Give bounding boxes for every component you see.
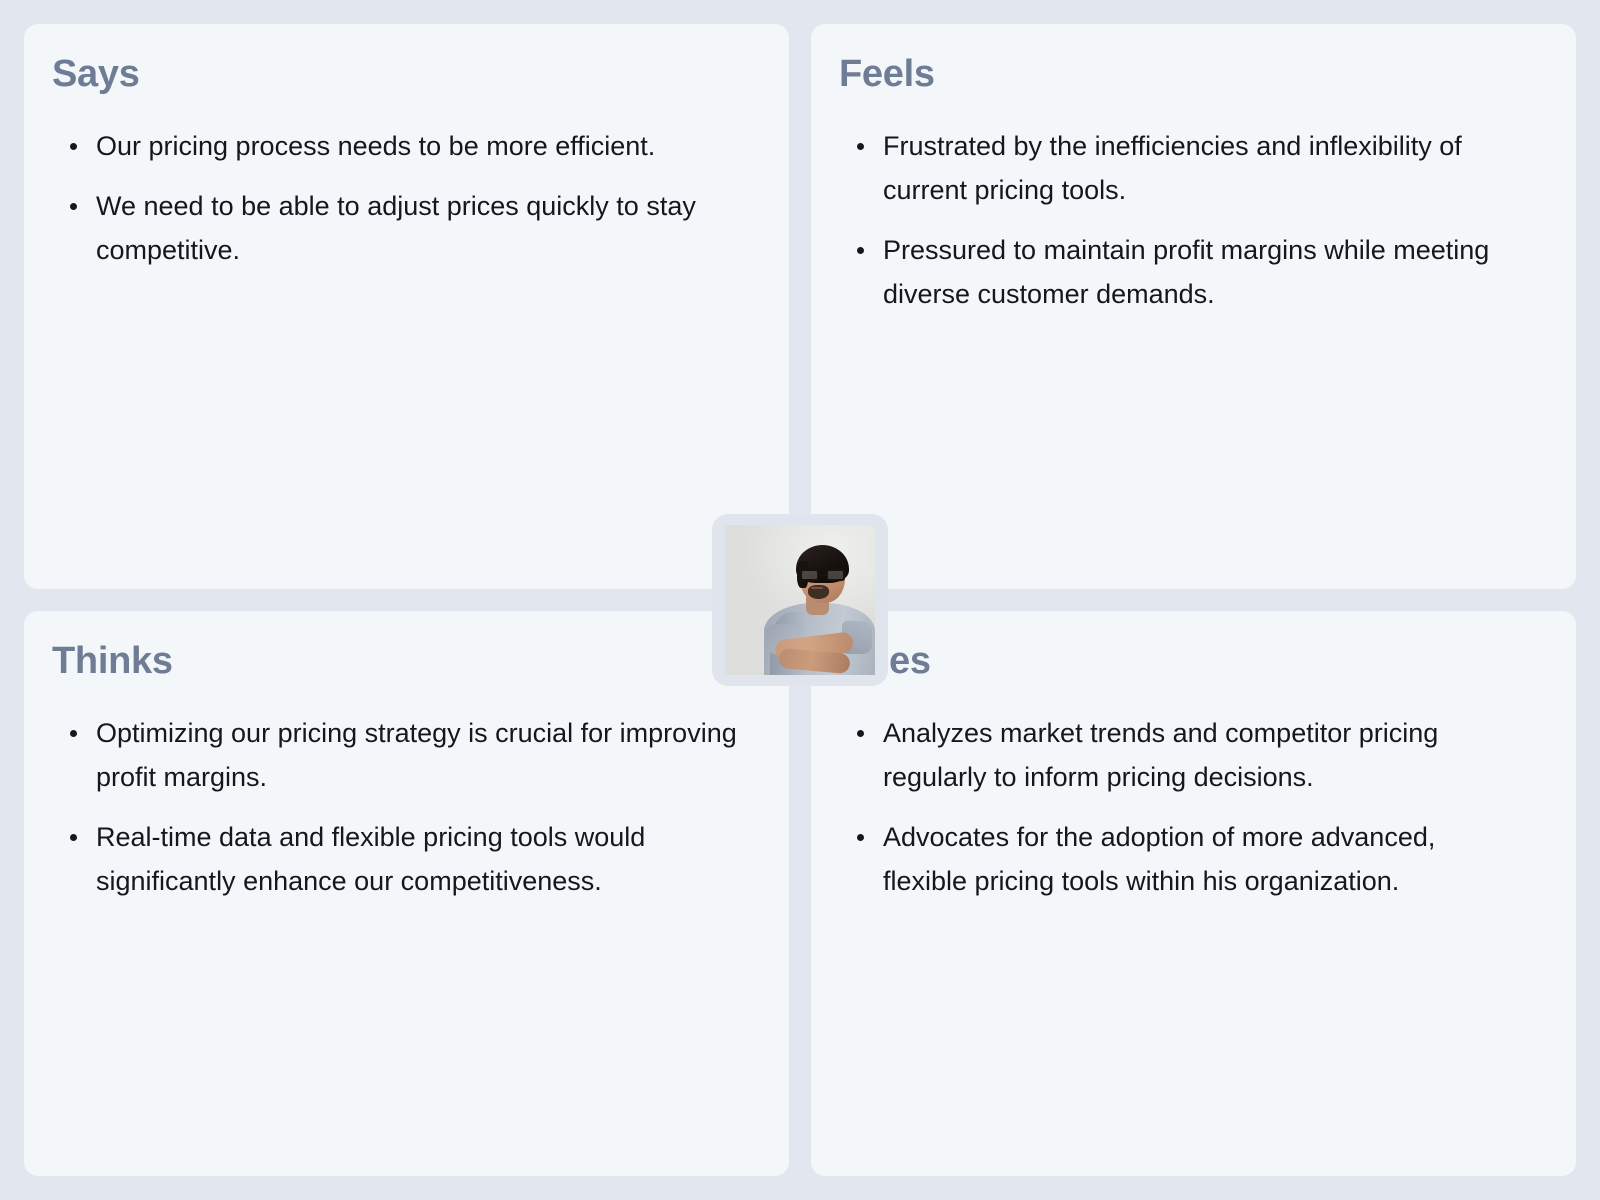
bullet-list-says: Our pricing process needs to be more eff… (52, 124, 755, 272)
list-item: Frustrated by the inefficiencies and inf… (845, 124, 1525, 212)
list-item: Our pricing process needs to be more eff… (58, 124, 738, 168)
avatar (725, 525, 875, 675)
list-item: Pressured to maintain profit margins whi… (845, 228, 1525, 316)
list-item: Optimizing our pricing strategy is cruci… (58, 711, 738, 799)
bullet-list-feels: Frustrated by the inefficiencies and inf… (839, 124, 1542, 316)
quadrant-says[interactable]: Says Our pricing process needs to be mor… (24, 24, 789, 589)
quadrant-title-does: Does (839, 641, 1542, 683)
quadrant-does[interactable]: Does Analyzes market trends and competit… (811, 611, 1576, 1176)
bullet-list-does: Analyzes market trends and competitor pr… (839, 711, 1542, 903)
bullet-list-thinks: Optimizing our pricing strategy is cruci… (52, 711, 755, 903)
list-item: Real-time data and flexible pricing tool… (58, 815, 738, 903)
empathy-map: Says Our pricing process needs to be mor… (0, 0, 1600, 1200)
persona-photo-icon (725, 525, 875, 675)
quadrant-title-thinks: Thinks (52, 641, 755, 683)
list-item: We need to be able to adjust prices quic… (58, 184, 738, 272)
quadrant-thinks[interactable]: Thinks Optimizing our pricing strategy i… (24, 611, 789, 1176)
list-item: Analyzes market trends and competitor pr… (845, 711, 1525, 799)
quadrant-title-says: Says (52, 54, 755, 96)
persona-avatar-card[interactable] (712, 514, 888, 686)
list-item: Advocates for the adoption of more advan… (845, 815, 1525, 903)
quadrant-title-feels: Feels (839, 54, 1542, 96)
quadrant-feels[interactable]: Feels Frustrated by the inefficiencies a… (811, 24, 1576, 589)
